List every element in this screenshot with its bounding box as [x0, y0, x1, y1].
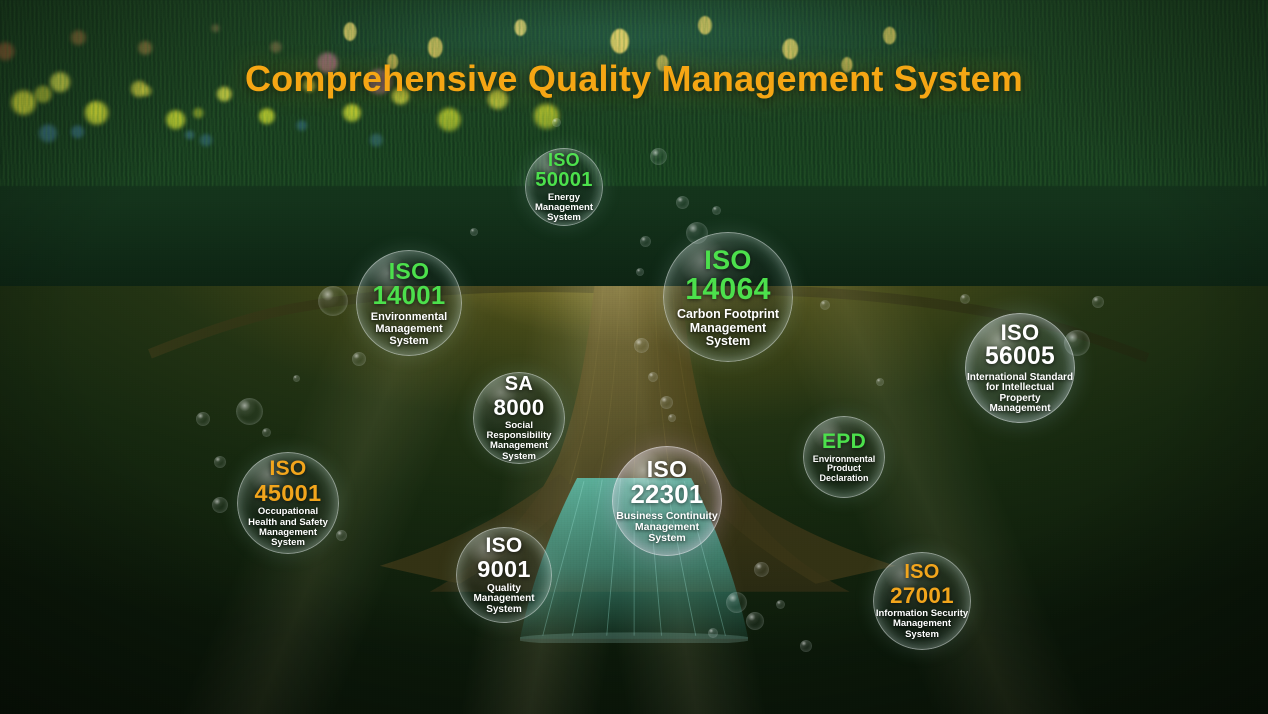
standard-code-prefix: ISO — [1001, 321, 1040, 344]
standard-code-prefix: ISO — [269, 458, 306, 480]
standard-bubble-epd[interactable]: EPDEnvironmental Product Declaration — [803, 416, 885, 498]
standard-description: Quality Management System — [473, 584, 534, 616]
standard-description: Business Continuity Management System — [616, 511, 718, 544]
standard-description: Carbon Footprint Management System — [677, 308, 779, 348]
standard-description: Environmental Management System — [371, 312, 447, 347]
standard-code-prefix: EPD — [822, 431, 866, 453]
standard-bubble-iso-27001[interactable]: ISO27001Information Security Management … — [873, 552, 971, 650]
standard-code-number: 50001 — [535, 170, 593, 191]
standard-bubble-iso-22301[interactable]: ISO22301Business Continuity Management S… — [612, 446, 722, 556]
standard-bubble-iso-9001[interactable]: ISO9001Quality Management System — [456, 527, 552, 623]
standard-code-number: 14064 — [685, 274, 771, 306]
grain-overlay — [0, 0, 1268, 714]
standard-code-number: 27001 — [890, 584, 954, 608]
standard-bubble-iso-56005[interactable]: ISO56005International Standard for Intel… — [965, 313, 1075, 423]
standard-code-number: 14001 — [372, 283, 445, 310]
standard-code-prefix: ISO — [485, 535, 522, 557]
standard-bubble-sa-8000[interactable]: SA8000Social Responsibility Management S… — [473, 372, 565, 464]
standard-description: Information Security Management System — [876, 609, 968, 639]
standard-code-number: 56005 — [985, 344, 1055, 370]
standard-bubble-iso-14064[interactable]: ISO14064Carbon Footprint Management Syst… — [663, 232, 793, 362]
standard-bubble-iso-50001[interactable]: ISO50001Energy Management System — [525, 148, 603, 226]
standard-bubble-iso-45001[interactable]: ISO45001Occupational Health and Safety M… — [237, 452, 339, 554]
standard-code-number: 45001 — [255, 481, 322, 506]
standard-description: Energy Management System — [535, 193, 593, 223]
standard-code-number: 22301 — [630, 482, 703, 509]
standard-description: Occupational Health and Safety Managemen… — [248, 507, 328, 547]
standard-description: Environmental Product Declaration — [813, 455, 876, 484]
page-title: Comprehensive Quality Management System — [0, 58, 1268, 100]
standard-code-prefix: ISO — [704, 246, 751, 275]
slide-canvas: Comprehensive Quality Management System … — [0, 0, 1268, 714]
standard-code-prefix: ISO — [647, 457, 688, 481]
standard-code-prefix: SA — [505, 374, 533, 395]
standard-code-prefix: ISO — [389, 259, 430, 283]
standard-code-prefix: ISO — [548, 151, 580, 170]
standard-code-number: 9001 — [477, 557, 531, 582]
standard-code-number: 8000 — [493, 396, 544, 420]
standard-code-prefix: ISO — [904, 562, 939, 583]
standard-description: International Standard for Intellectual … — [967, 373, 1073, 415]
standard-bubble-iso-14001[interactable]: ISO14001Environmental Management System — [356, 250, 462, 356]
